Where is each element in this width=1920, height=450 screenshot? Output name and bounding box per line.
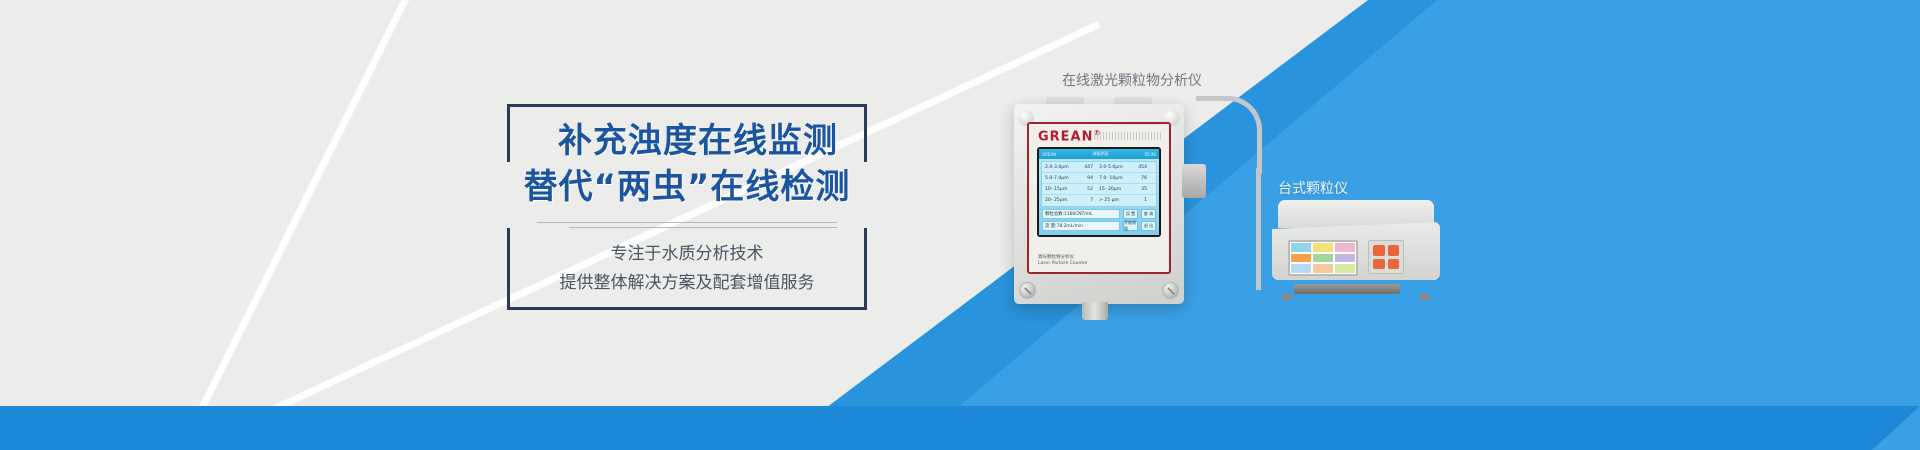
cell-value-b: 76 [1133,176,1153,181]
analyzer-enclosure: GREAN® GREAN 测量界面 05:46 2.0-3.0μm [1014,104,1184,304]
analyzer-brand-text: GREAN [1038,129,1094,144]
screen-button-query[interactable]: 查 询 [1141,209,1156,219]
analyzer-footer-text: 激光颗粒物分析仪 Laser Particle Counter [1038,255,1088,267]
divider-line-upper [537,222,837,223]
screen-tile [1312,253,1334,264]
bottom-blue-band [0,406,1920,450]
page-title: 补充浊度在线监测 替代“两虫”在线检测 [507,118,867,210]
cell-range-b: 15- 20μm [1099,187,1133,192]
screen-button-settings[interactable]: 设 置 [1123,209,1138,219]
bench-key[interactable] [1388,245,1400,256]
screen-row-total: 颗粒总数:1166CNT/mL 设 置 查 询 [1042,209,1156,219]
screen-tile [1290,242,1312,253]
screen-button-exit[interactable]: 退 出 [1141,221,1156,231]
analyzer-screw-left [1019,282,1036,299]
label-online-analyzer: 在线激光颗粒物分析仪 [1062,72,1202,90]
analyzer-hatch-pattern [1091,132,1162,140]
screen-tile [1290,263,1312,274]
analyzer-screen[interactable]: GREAN 测量界面 05:46 2.0-3.0μm 447 3.0-5.0μm… [1039,149,1159,235]
bench-screen-tiles [1290,242,1356,274]
screen-tile [1334,263,1356,274]
divider-line-lower [569,227,837,228]
cell-range-a: 20- 25μm [1045,198,1079,203]
frame-border-top [507,104,867,107]
screen-field-flow: 流 量:78.2mL/min [1042,221,1120,231]
bench-key[interactable] [1373,259,1385,270]
screen-tile [1334,242,1356,253]
cell-value-b: 454 [1133,165,1153,170]
bench-key[interactable] [1373,245,1385,256]
bench-sample-tray [1294,284,1400,294]
online-laser-particle-analyzer: GREAN® GREAN 测量界面 05:46 2.0-3.0μm [1014,104,1184,304]
cell-range-b: > 25 μm [1099,198,1133,203]
bench-touchscreen[interactable] [1288,240,1358,276]
cell-value-b: 35 [1133,187,1153,192]
cell-value-a: 7 [1079,198,1099,203]
screen-data-table: 2.0-3.0μm 447 3.0-5.0μm 454 5.0-7.0μm 94… [1041,161,1157,207]
bench-particle-counter [1272,200,1440,296]
bench-key[interactable] [1388,259,1400,270]
screen-title-center: 测量界面 [1092,151,1108,157]
screen-tile [1290,253,1312,264]
analyzer-bottom-port [1082,302,1108,320]
cell-value-a: 447 [1079,165,1099,170]
analyzer-footer-en: Laser Particle Counter [1038,261,1088,267]
screen-tile [1312,242,1334,253]
screen-title-bar: GREAN 测量界面 05:46 [1039,149,1159,159]
headline-line-1: 补充浊度在线监测 [507,118,867,164]
label-bench-counter: 台式颗粒仪 [1278,180,1348,198]
screen-tile [1334,253,1356,264]
headline-block: 补充浊度在线监测 替代“两虫”在线检测 专注于水质分析技术 提供整体解决方案及配… [507,104,867,310]
screen-row-flow: 流 量:78.2mL/min 开始测量 退 出 [1042,221,1156,231]
cell-range-a: 5.0-7.0μm [1045,176,1079,181]
table-row: 2.0-3.0μm 447 3.0-5.0μm 454 [1042,162,1156,173]
blue-band-notch [1800,406,1920,450]
table-row: 20- 25μm 7 > 25 μm 1 [1042,195,1156,206]
cell-range-b: 3.0-5.0μm [1099,165,1133,170]
cell-range-a: 2.0-3.0μm [1045,165,1079,170]
cell-value-a: 52 [1079,187,1099,192]
table-row: 10- 15μm 52 15- 20μm 35 [1042,184,1156,195]
screen-title-right: 05:46 [1144,152,1156,157]
headline-divider [537,222,837,228]
bench-foot-right [1420,294,1430,300]
bench-keypad[interactable] [1368,240,1404,274]
analyzer-side-port [1182,164,1206,198]
screen-tile [1312,263,1334,274]
background-layer [0,0,1920,450]
cell-range-b: 7.0- 10μm [1099,176,1133,181]
cell-value-a: 94 [1079,176,1099,181]
analyzer-screen-bezel: GREAN 测量界面 05:46 2.0-3.0μm 447 3.0-5.0μm… [1037,147,1161,237]
screen-field-total: 颗粒总数:1166CNT/mL [1042,209,1120,219]
frame-border-bottom [507,307,867,310]
headline-line-2: 替代“两虫”在线检测 [507,164,867,210]
cell-value-b: 1 [1133,198,1153,203]
screen-title-left: GREAN [1042,152,1056,157]
subtitle-line-1: 专注于水质分析技术 [507,240,867,269]
subtitle-line-2: 提供整体解决方案及配套增值服务 [507,269,867,298]
connector-tube-stem [1256,168,1261,290]
analyzer-screw-right [1162,282,1179,299]
bench-foot-left [1282,294,1292,300]
connector-tube [1196,96,1262,174]
cell-range-a: 10- 15μm [1045,187,1079,192]
analyzer-front-panel: GREAN® GREAN 测量界面 05:46 2.0-3.0μm [1027,122,1171,274]
promo-banner: 补充浊度在线监测 替代“两虫”在线检测 专注于水质分析技术 提供整体解决方案及配… [0,0,1920,450]
screen-button-start-measure[interactable]: 开始测量 [1123,221,1138,231]
table-row: 5.0-7.0μm 94 7.0- 10μm 76 [1042,173,1156,184]
subtitle: 专注于水质分析技术 提供整体解决方案及配套增值服务 [507,240,867,298]
